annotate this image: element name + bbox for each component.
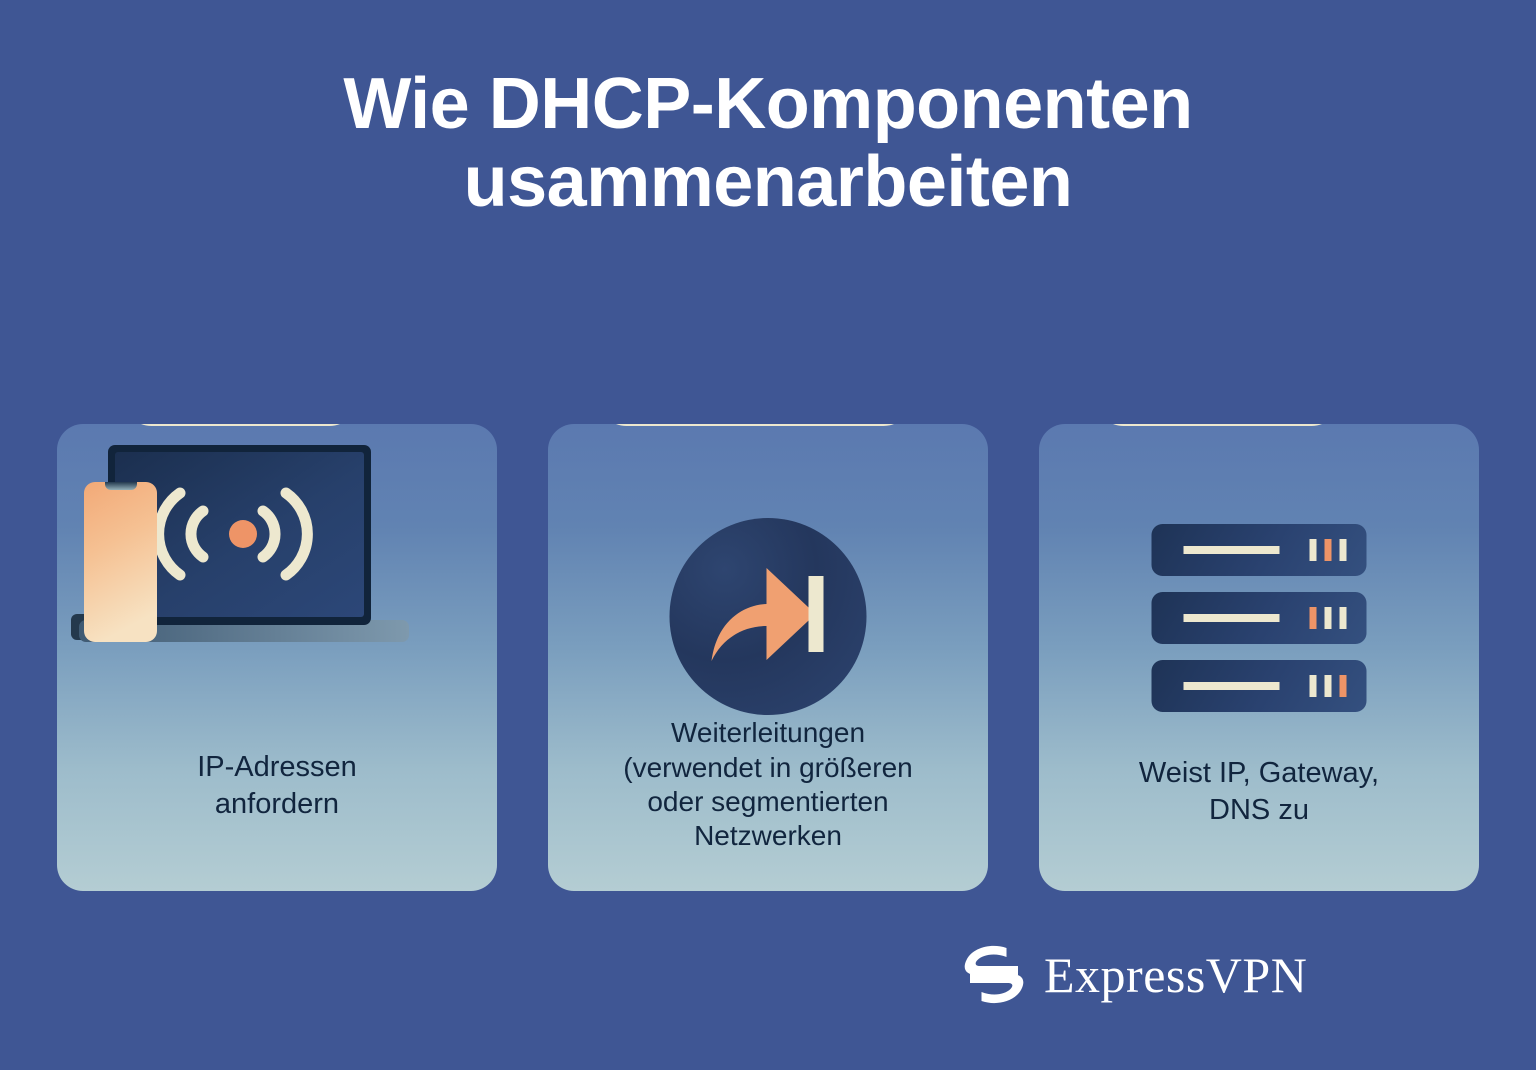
card-pill-dhcp-client: DHCP-Client (123, 424, 358, 426)
server-label-line (1184, 682, 1280, 690)
card-dhcp-relay-agent: DHCP-Relay-Agent Weiterleitungen (verwen… (548, 424, 988, 891)
server-led (1325, 675, 1332, 697)
cards-row: DHCP-Client (57, 424, 1479, 891)
server-led-group (1310, 675, 1347, 697)
server-label-line (1184, 614, 1280, 622)
expressvpn-logo: ExpressVPN (962, 944, 1307, 1006)
page-title: Wie DHCP-Komponenten usammenarbeiten (0, 66, 1536, 222)
server-led (1340, 607, 1347, 629)
server-bar (1152, 660, 1367, 712)
server-led (1325, 607, 1332, 629)
server-label-line (1184, 546, 1280, 554)
relay-circle-icon (670, 518, 867, 715)
server-led-active (1310, 607, 1317, 629)
server-led-active (1340, 675, 1347, 697)
forward-arrow-circle-illustration (670, 518, 867, 715)
card-pill-dhcp-server: DHCP-Server (1095, 424, 1340, 426)
server-led-group (1310, 539, 1347, 561)
server-bar (1152, 524, 1367, 576)
expressvpn-mark-icon (962, 944, 1026, 1006)
card-pill-dhcp-relay-agent: DHCP-Relay-Agent (598, 424, 912, 426)
card-caption-dhcp-client: IP-Adressen anfordern (57, 749, 497, 823)
server-led-group (1310, 607, 1347, 629)
server-led (1310, 675, 1317, 697)
server-led (1340, 539, 1347, 561)
card-dhcp-server: DHCP-Server (1039, 424, 1479, 891)
card-caption-dhcp-relay-agent: Weiterleitungen (verwendet in größeren o… (548, 716, 988, 853)
server-stack-illustration (1152, 524, 1367, 712)
server-led-active (1325, 539, 1332, 561)
expressvpn-wordmark: ExpressVPN (1044, 946, 1307, 1004)
server-bar (1152, 592, 1367, 644)
server-led (1310, 539, 1317, 561)
forward-arrow-icon (708, 564, 828, 670)
card-dhcp-client: DHCP-Client (57, 424, 497, 891)
card-caption-dhcp-server: Weist IP, Gateway, DNS zu (1039, 755, 1479, 829)
